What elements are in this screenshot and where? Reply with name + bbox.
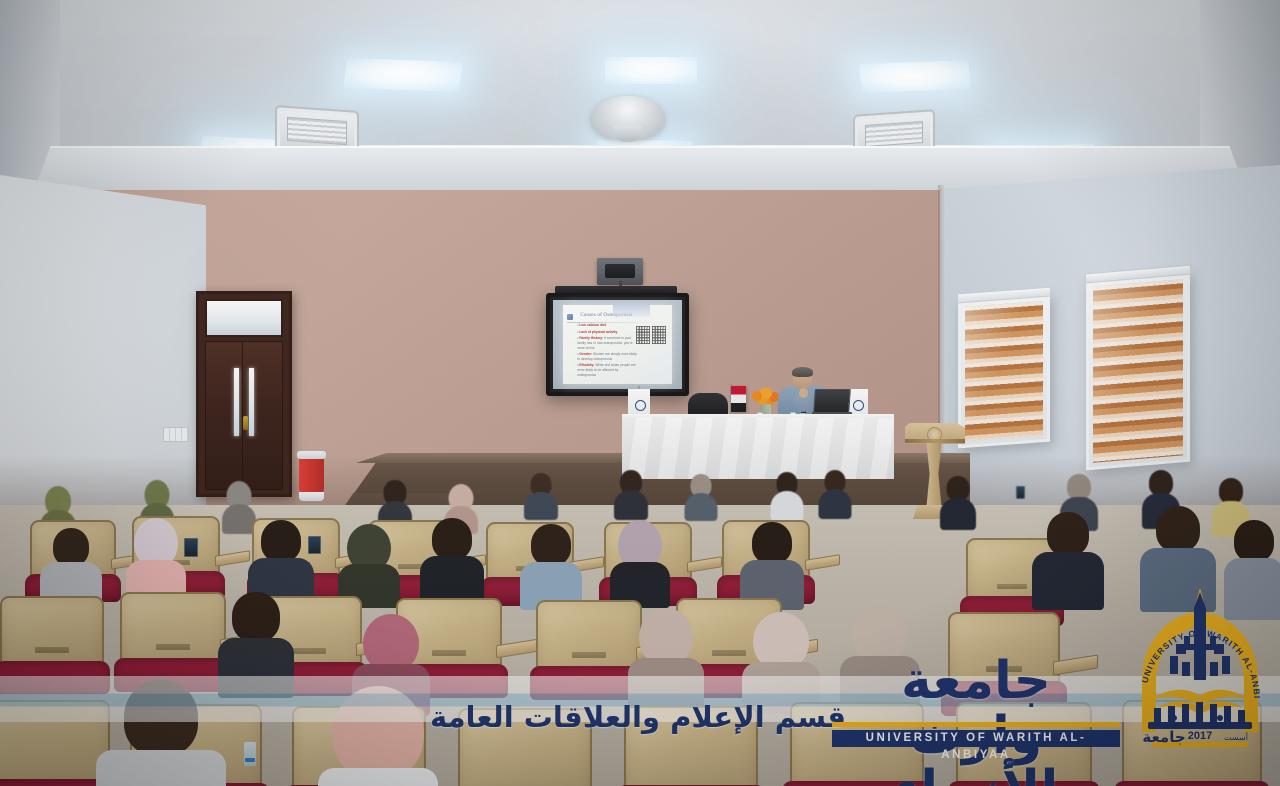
whiteboard-surface: Causes of Osteoporosis Low calcium diet … [553, 300, 682, 389]
torso [524, 492, 558, 520]
audience-member [818, 470, 851, 516]
university-name-block: جامعة وارث الأنبياء UNIVERSITY OF WARITH… [826, 654, 1126, 754]
window-right [1086, 272, 1190, 471]
head-hijab [363, 614, 419, 668]
audience-member [770, 472, 803, 518]
head [124, 680, 198, 756]
slide-bullet: Low calcium diet [577, 323, 637, 328]
lectern-band [905, 439, 965, 443]
seat-logo-plate [572, 652, 606, 658]
audience-member [684, 474, 717, 518]
light-switch-plate[interactable] [163, 427, 189, 442]
head-hijab [134, 518, 178, 564]
audience-member [248, 520, 314, 602]
smartphone[interactable] [308, 536, 321, 554]
head-hijab [639, 608, 693, 662]
slide-bullet: Ethnicity: White and Asian people are mo… [577, 363, 637, 377]
torso [1032, 552, 1104, 610]
audience-member [40, 528, 102, 600]
smartphone[interactable] [184, 538, 198, 557]
ceiling-exhaust-fan [592, 96, 664, 140]
university-english-name: UNIVERSITY OF WARITH AL-ANBIYAA [832, 730, 1120, 747]
audience-member [338, 524, 400, 602]
department-arabic-text: قسم الإعلام والعلاقات العامة [430, 700, 846, 734]
qr-code-icon [652, 326, 666, 344]
auditorium-seat[interactable] [120, 592, 226, 692]
laptop-screen[interactable] [813, 389, 851, 413]
logo-year: 2017 [1188, 730, 1212, 742]
seat-logo-plate [712, 650, 746, 656]
head [531, 524, 571, 566]
smartphone[interactable] [1016, 486, 1025, 499]
head-hijab [347, 524, 391, 568]
bullet-lead: Gender: [579, 352, 592, 356]
seat-logo-plate [292, 648, 326, 654]
audience-member [628, 608, 704, 704]
torso [684, 493, 717, 521]
seat-logo-plate [432, 650, 466, 656]
head [1047, 512, 1089, 556]
slide-qr-codes [636, 326, 666, 344]
seat-back [536, 600, 642, 674]
torso [96, 750, 226, 786]
audience-member [1032, 512, 1104, 604]
trash-bin [299, 456, 324, 494]
torso [218, 638, 294, 698]
seat-logo-plate [35, 647, 68, 653]
head [232, 592, 280, 642]
door-handle[interactable] [243, 416, 248, 430]
audience-member [524, 473, 558, 517]
presenter-hand [799, 388, 808, 398]
head-hijab [753, 612, 809, 666]
entry-door[interactable] [196, 291, 292, 497]
audience-member [218, 592, 294, 692]
torso [818, 489, 851, 519]
slide-bullet-list: Low calcium diet Lack of physical activi… [577, 323, 637, 377]
slide-bullet: Family History: If someone in your famil… [577, 336, 637, 350]
seat-logo-plate [156, 644, 190, 650]
bullet-lead: Ethnicity: [579, 363, 594, 367]
water-bottle [244, 742, 256, 766]
bullet-lead: Family History: [579, 336, 603, 340]
audience-member [610, 520, 670, 602]
audience-member [614, 470, 648, 516]
head [53, 528, 89, 566]
bullet-lead: Lack of physical activity [579, 330, 617, 334]
slide-title-icon [567, 314, 573, 320]
door-transom-window [205, 299, 283, 337]
ceiling-light-panel [343, 58, 463, 92]
seat-logo-plate [997, 584, 1026, 589]
audience-member [520, 524, 582, 604]
head-hijab [618, 520, 662, 566]
window-left [958, 294, 1050, 449]
head-table [622, 417, 894, 479]
door-glass-strip [249, 368, 254, 436]
torso [318, 768, 438, 786]
audience-member [126, 518, 186, 596]
logo-founded-label: أسست [1224, 732, 1248, 742]
head [752, 522, 792, 564]
door-leaf-left[interactable] [205, 341, 246, 490]
head [1234, 520, 1274, 562]
auditorium-seat[interactable] [0, 700, 110, 786]
slide-bullet: Lack of physical activity [577, 330, 637, 335]
audience-member [96, 680, 226, 786]
head [432, 518, 472, 560]
slide-bullet: Gender: Women are simply more likely to … [577, 352, 637, 362]
iraq-flag [731, 386, 746, 412]
head [261, 520, 301, 562]
head-hijab [852, 604, 908, 660]
screen-glare [613, 305, 650, 316]
university-logo: UNIVERSITY OF WARITH AL-ANBIYAA [1124, 582, 1276, 758]
seat-back [120, 592, 226, 666]
logo-spire [1194, 592, 1206, 632]
presentation-slide: Causes of Osteoporosis Low calcium diet … [563, 305, 671, 383]
ceiling-light-panel [858, 60, 971, 93]
door-glass-strip [234, 368, 239, 436]
seat-back [0, 700, 110, 786]
logo-arabic-sub: جامعة [1142, 728, 1185, 746]
zebra-blind[interactable] [965, 301, 1043, 441]
audience-member [740, 522, 804, 604]
auditorium-seat[interactable] [536, 600, 642, 700]
audience-member [940, 476, 976, 528]
seat-cushion [1114, 781, 1271, 786]
bullet-lead: Low calcium diet [579, 323, 606, 327]
presenter-hair [792, 367, 813, 377]
door-leaf-right[interactable] [242, 341, 283, 490]
audience-member [742, 612, 820, 708]
slide-title-rule [567, 322, 654, 323]
interactive-whiteboard[interactable]: Causes of Osteoporosis Low calcium diet … [546, 293, 689, 396]
head-hijab [332, 686, 424, 774]
torso [614, 490, 648, 520]
qr-code-icon [636, 326, 650, 344]
seat-cushion [0, 661, 110, 694]
audience-member [318, 686, 438, 786]
torso [770, 491, 803, 521]
audience-member [420, 518, 484, 602]
head [1156, 506, 1200, 552]
torso [940, 498, 976, 530]
auditorium-seat[interactable] [0, 596, 104, 694]
lecture-hall-photo: Causes of Osteoporosis Low calcium diet … [0, 0, 1280, 786]
university-arabic-name: جامعة وارث الأنبياء [826, 654, 1126, 786]
zebra-blind[interactable] [1093, 279, 1183, 463]
gold-divider-bar [832, 722, 1120, 727]
ceiling-light-panel [605, 57, 697, 84]
seat-back [0, 596, 104, 669]
